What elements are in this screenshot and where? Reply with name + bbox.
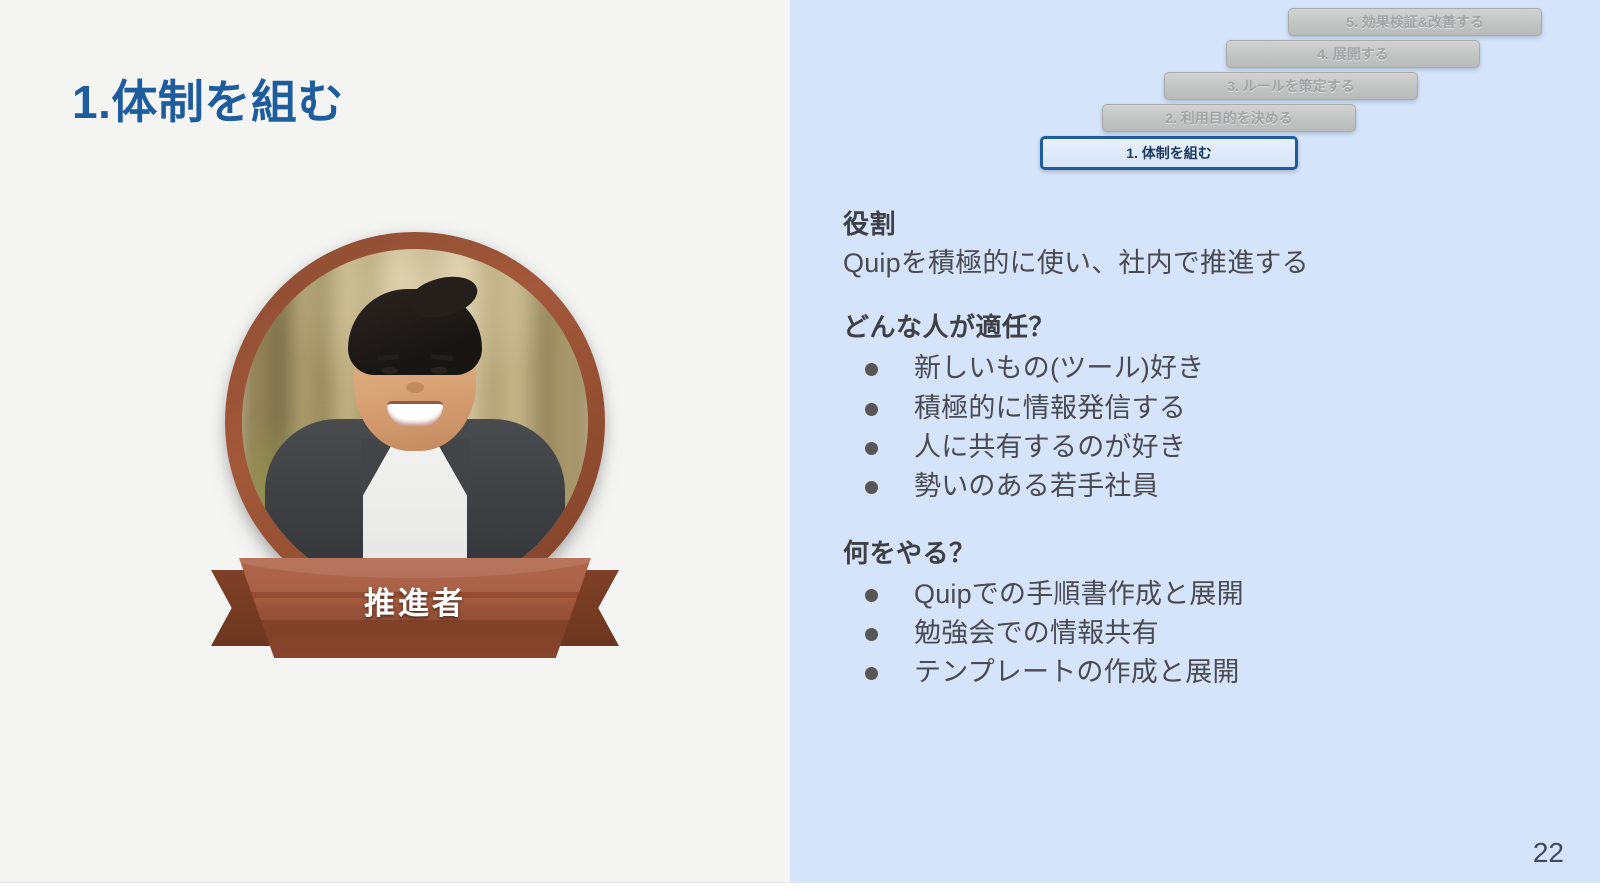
list-item-label: 人に共有するのが好き xyxy=(914,428,1186,467)
bullet-icon xyxy=(865,442,878,455)
ribbon-label: 推進者 xyxy=(205,578,625,623)
step-4[interactable]: 4. 展開する xyxy=(1226,40,1480,68)
bullet-icon xyxy=(865,403,878,416)
bullet-icon xyxy=(865,589,878,602)
content-body: 役割 Quipを積極的に使い、社内で推進する どんな人が適任？ 新しいもの(ツー… xyxy=(843,208,1543,693)
person-eye-left xyxy=(381,367,398,374)
step-1-active[interactable]: 1. 体制を組む xyxy=(1040,136,1298,170)
page-title: 1.体制を組む xyxy=(72,66,344,132)
spacer-2 xyxy=(843,507,1543,537)
list-item: Quipでの手順書作成と展開 xyxy=(843,575,1543,614)
role-heading: 役割 xyxy=(843,208,1543,242)
list-item-label: Quipでの手順書作成と展開 xyxy=(914,575,1244,614)
list-item-label: 勉強会での情報共有 xyxy=(914,614,1159,653)
list-item: 勢いのある若手社員 xyxy=(843,467,1543,506)
fit-list: 新しいもの(ツール)好き 積極的に情報発信する 人に共有するのが好き 勢いのある… xyxy=(843,349,1543,507)
list-item: 積極的に情報発信する xyxy=(843,389,1543,428)
list-item: テンプレートの作成と展開 xyxy=(843,653,1543,692)
list-item-label: 新しいもの(ツール)好き xyxy=(914,349,1204,388)
page-number: 22 xyxy=(1533,837,1564,869)
bullet-icon xyxy=(865,481,878,494)
do-heading: 何をやる？ xyxy=(843,537,1543,571)
role-text: Quipを積極的に使い、社内で推進する xyxy=(843,246,1543,282)
slide: 1.体制を組む 推進 xyxy=(0,0,1600,891)
persona-photo xyxy=(242,249,588,595)
person-eye-right xyxy=(431,367,448,374)
bullet-icon xyxy=(865,363,878,376)
spacer-1 xyxy=(843,281,1543,311)
list-item-label: 勢いのある若手社員 xyxy=(914,467,1159,506)
do-list: Quipでの手順書作成と展開 勉強会での情報共有 テンプレートの作成と展開 xyxy=(843,575,1543,693)
persona-badge: 推進者 xyxy=(205,218,625,658)
step-2[interactable]: 2. 利用目的を決める xyxy=(1102,104,1356,132)
bullet-icon xyxy=(865,667,878,680)
person-lapel-left xyxy=(361,439,395,499)
fit-heading: どんな人が適任？ xyxy=(843,311,1543,345)
person-nose xyxy=(406,382,424,393)
list-item-label: テンプレートの作成と展開 xyxy=(914,653,1240,692)
step-5[interactable]: 5. 効果検証&改善する xyxy=(1288,8,1542,36)
list-item: 勉強会での情報共有 xyxy=(843,614,1543,653)
step-3[interactable]: 3. ルールを策定する xyxy=(1164,72,1418,100)
bullet-icon xyxy=(865,628,878,641)
steps-staircase: 5. 効果検証&改善する 4. 展開する 3. ルールを策定する 2. 利用目的… xyxy=(1040,4,1540,164)
slide-bottom-edge xyxy=(0,882,1600,891)
person-lapel-right xyxy=(435,439,469,499)
list-item-label: 積極的に情報発信する xyxy=(914,389,1186,428)
persona-ribbon: 推進者 xyxy=(205,548,625,668)
list-item: 新しいもの(ツール)好き xyxy=(843,349,1543,388)
list-item: 人に共有するのが好き xyxy=(843,428,1543,467)
